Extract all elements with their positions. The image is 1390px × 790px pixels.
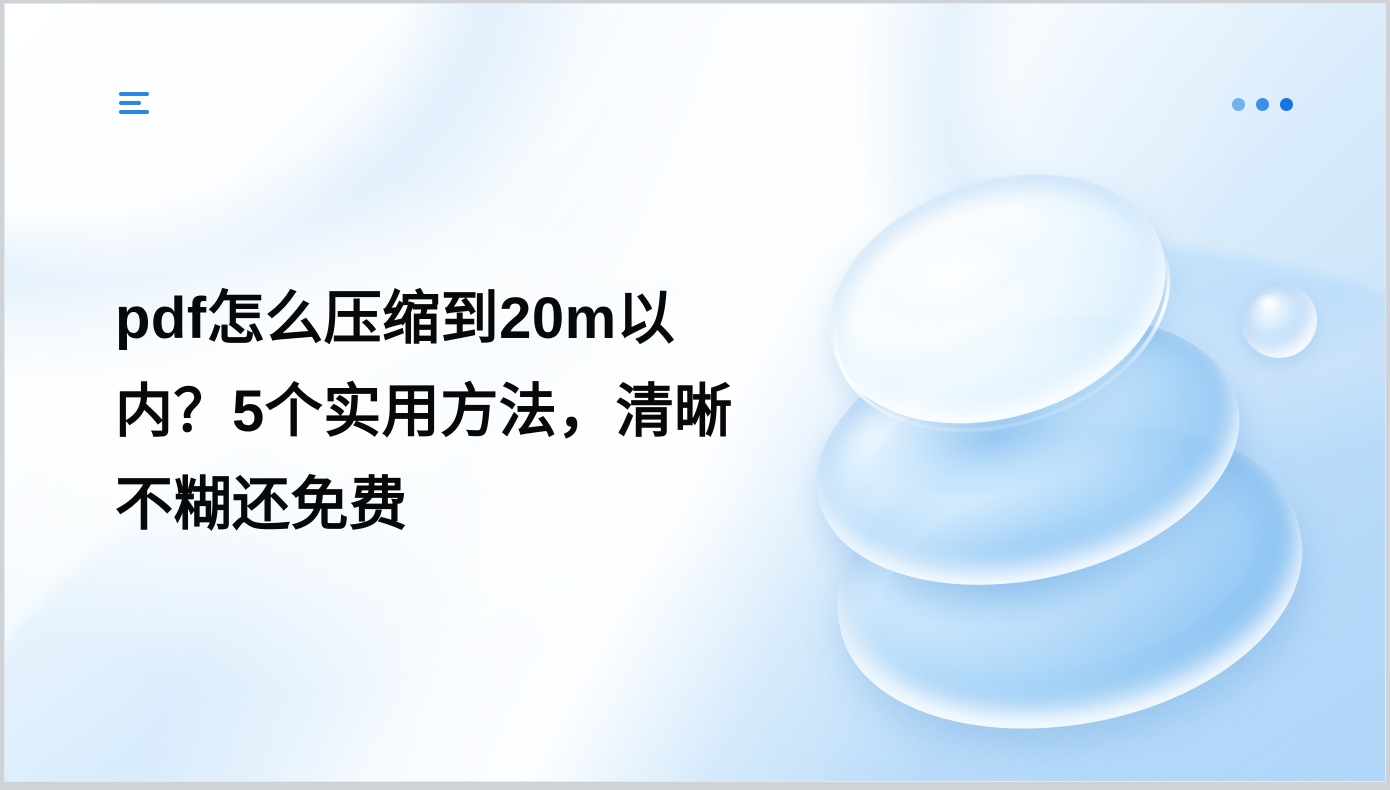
dot-2 <box>1256 98 1269 111</box>
dot-3 <box>1280 98 1293 111</box>
slide-root: pdf怎么压缩到20m以内？5个实用方法，清晰不糊还免费 <box>0 0 1390 790</box>
hamburger-menu-icon[interactable] <box>117 86 159 120</box>
three-dots-icon[interactable] <box>1232 93 1295 115</box>
hamburger-bar-bottom <box>119 110 149 114</box>
dot-1 <box>1232 98 1245 111</box>
hamburger-bar-top <box>119 92 149 96</box>
slide-canvas: pdf怎么压缩到20m以内？5个实用方法，清晰不糊还免费 <box>4 3 1386 782</box>
page-title: pdf怎么压缩到20m以内？5个实用方法，清晰不糊还免费 <box>115 272 775 551</box>
hamburger-bar-middle <box>119 101 141 105</box>
